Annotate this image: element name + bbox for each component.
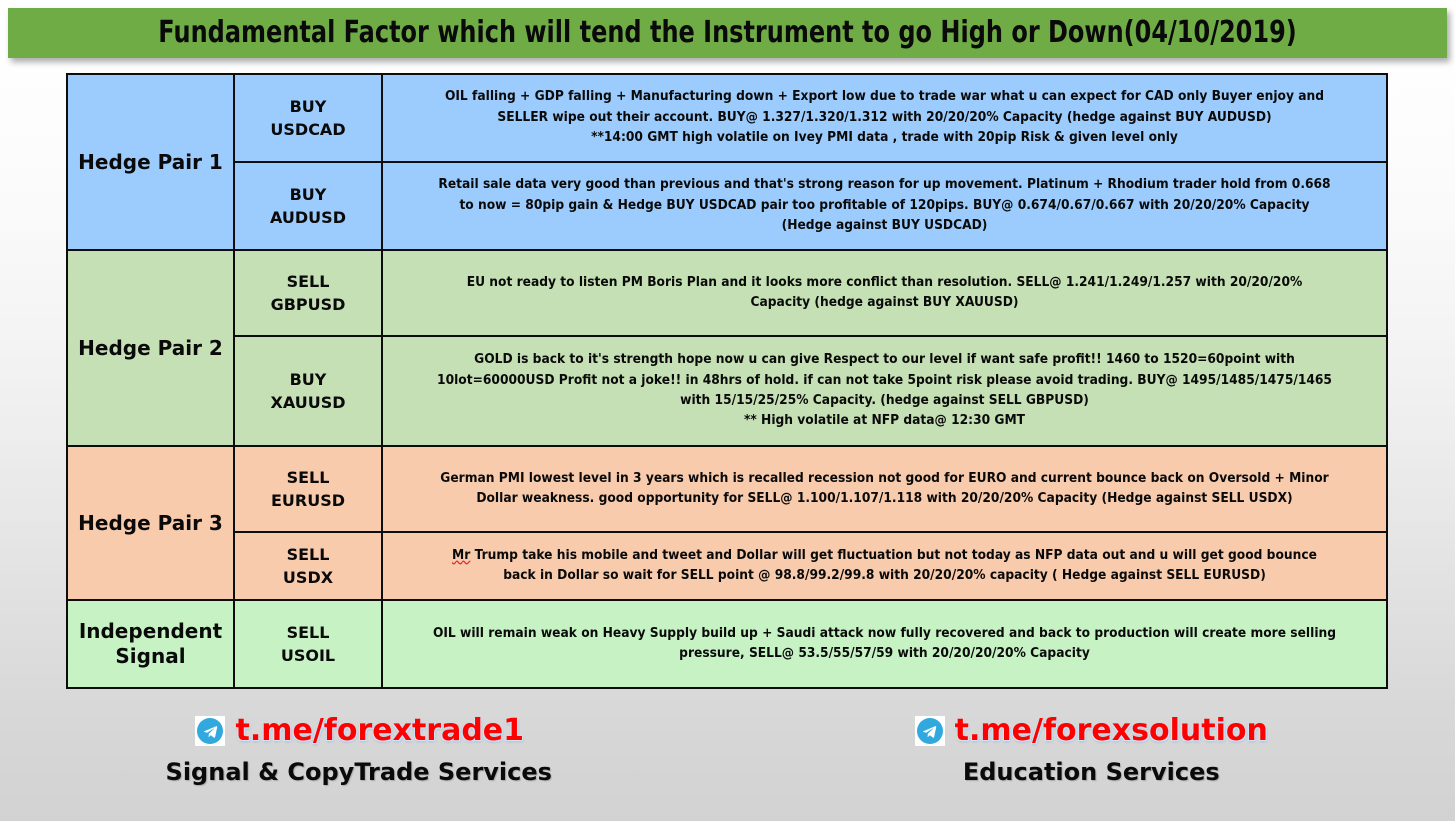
detail-line: OIL will remain weak on Heavy Supply bui…: [425, 624, 1345, 644]
detail-line: Capacity (hedge against BUY XAUUSD): [425, 293, 1345, 313]
telegram-link-forextrade1[interactable]: t.me/forextrade1: [195, 716, 524, 746]
action-label: SELL: [242, 270, 374, 293]
detail-line: to now = 80pip gain & Hedge BUY USDCAD p…: [425, 196, 1345, 216]
instrument-cell-usdcad: BUY USDCAD: [234, 74, 382, 162]
detail-line: ** High volatile at NFP data@ 12:30 GMT: [425, 411, 1345, 431]
footer-block-education-service: t.me/forexsolution Education Services: [728, 716, 1455, 784]
instrument-label: USDCAD: [242, 118, 374, 141]
detail-line: GOLD is back to it's strength hope now u…: [425, 350, 1345, 370]
telegram-handle[interactable]: t.me/forextrade1: [235, 716, 524, 746]
footer-block-signal-service: t.me/forextrade1 Signal & CopyTrade Serv…: [0, 716, 728, 784]
instrument-cell-xauusd: BUY XAUUSD: [234, 336, 382, 446]
footer: t.me/forextrade1 Signal & CopyTrade Serv…: [0, 716, 1455, 821]
instrument-cell-eurusd: SELL EURUSD: [234, 446, 382, 532]
table-row: Hedge Pair 2 SELL GBPUSD EU not ready to…: [67, 250, 1387, 336]
detail-line: with 15/15/25/25% Capacity. (hedge again…: [425, 391, 1345, 411]
detail-line: (Hedge against BUY USDCAD): [425, 216, 1345, 236]
action-label: SELL: [242, 466, 374, 489]
detail-cell-usdcad: OIL falling + GDP falling + Manufacturin…: [382, 74, 1387, 162]
table-row: Independent Signal SELL USOIL OIL will r…: [67, 600, 1387, 688]
instrument-label: USOIL: [242, 644, 374, 667]
group-label-line: Hedge Pair 2: [75, 336, 226, 361]
detail-line: SELLER wipe out their account. BUY@ 1.32…: [425, 108, 1345, 128]
detail-cell-usdx: Mr Trump take his mobile and tweet and D…: [382, 532, 1387, 600]
group-label-line: Signal: [75, 644, 226, 669]
detail-line: German PMI lowest level in 3 years which…: [425, 469, 1345, 489]
signal-table: Hedge Pair 1 BUY USDCAD OIL falling + GD…: [66, 73, 1388, 689]
detail-line: **14:00 GMT high volatile on Ivey PMI da…: [425, 128, 1345, 148]
footer-subtitle: Education Services: [963, 760, 1220, 784]
instrument-label: EURUSD: [242, 489, 374, 512]
page-title: Fundamental Factor which will tend the I…: [158, 18, 1296, 48]
table-row: Hedge Pair 3 SELL EURUSD German PMI lowe…: [67, 446, 1387, 532]
detail-cell-gbpusd: EU not ready to listen PM Boris Plan and…: [382, 250, 1387, 336]
detail-line: OIL falling + GDP falling + Manufacturin…: [425, 87, 1345, 107]
action-label: BUY: [242, 183, 374, 206]
detail-line: 10lot=60000USD Profit not a joke!! in 48…: [425, 371, 1345, 391]
detail-cell-xauusd: GOLD is back to it's strength hope now u…: [382, 336, 1387, 446]
group-label-line: Independent: [75, 619, 226, 644]
table-row: SELL USDX Mr Trump take his mobile and t…: [67, 532, 1387, 600]
action-label: BUY: [242, 95, 374, 118]
action-label: SELL: [242, 621, 374, 644]
detail-line-rest: Trump take his mobile and tweet and Doll…: [470, 548, 1317, 563]
telegram-handle[interactable]: t.me/forexsolution: [955, 716, 1268, 746]
instrument-cell-usoil: SELL USOIL: [234, 600, 382, 688]
detail-line: EU not ready to listen PM Boris Plan and…: [425, 273, 1345, 293]
instrument-cell-audusd: BUY AUDUSD: [234, 162, 382, 250]
instrument-label: XAUUSD: [242, 391, 374, 414]
action-label: BUY: [242, 368, 374, 391]
detail-line: back in Dollar so wait for SELL point @ …: [425, 566, 1345, 586]
telegram-icon: [915, 716, 945, 746]
group-label-hedge-pair-1: Hedge Pair 1: [67, 74, 234, 250]
instrument-cell-usdx: SELL USDX: [234, 532, 382, 600]
telegram-link-forexsolution[interactable]: t.me/forexsolution: [915, 716, 1268, 746]
telegram-icon: [195, 716, 225, 746]
detail-cell-audusd: Retail sale data very good than previous…: [382, 162, 1387, 250]
header-banner: Fundamental Factor which will tend the I…: [8, 8, 1447, 58]
instrument-cell-gbpusd: SELL GBPUSD: [234, 250, 382, 336]
instrument-label: USDX: [242, 566, 374, 589]
action-label: SELL: [242, 543, 374, 566]
detail-cell-usoil: OIL will remain weak on Heavy Supply bui…: [382, 600, 1387, 688]
footer-subtitle: Signal & CopyTrade Services: [166, 760, 552, 784]
table-row: Hedge Pair 1 BUY USDCAD OIL falling + GD…: [67, 74, 1387, 162]
table-row: BUY AUDUSD Retail sale data very good th…: [67, 162, 1387, 250]
detail-cell-eurusd: German PMI lowest level in 3 years which…: [382, 446, 1387, 532]
group-label-independent-signal: Independent Signal: [67, 600, 234, 688]
group-label-line: Hedge Pair 3: [75, 511, 226, 536]
instrument-label: GBPUSD: [242, 293, 374, 316]
detail-line: Dollar weakness. good opportunity for SE…: [425, 489, 1345, 509]
detail-line-misspelled: Mr Trump take his mobile and tweet and D…: [425, 546, 1345, 566]
instrument-label: AUDUSD: [242, 206, 374, 229]
group-label-line: Hedge Pair 1: [75, 150, 226, 175]
detail-line: Retail sale data very good than previous…: [425, 175, 1345, 195]
group-label-hedge-pair-2: Hedge Pair 2: [67, 250, 234, 446]
group-label-hedge-pair-3: Hedge Pair 3: [67, 446, 234, 600]
misspelled-word: Mr: [452, 548, 470, 563]
table-row: BUY XAUUSD GOLD is back to it's strength…: [67, 336, 1387, 446]
detail-line: pressure, SELL@ 53.5/55/57/59 with 20/20…: [425, 644, 1345, 664]
